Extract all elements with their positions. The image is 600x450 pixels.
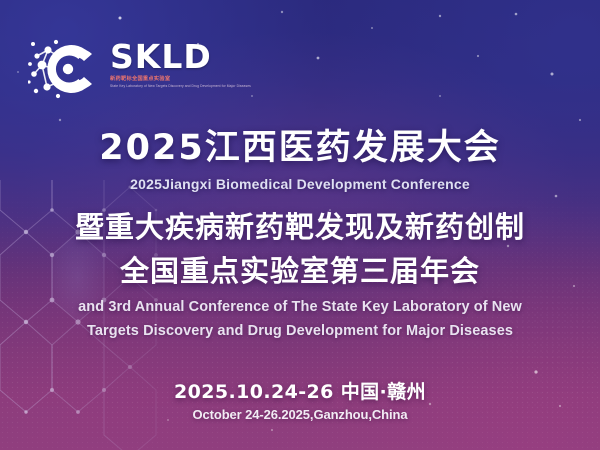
event-date-location-en: October 24-26.2025,Ganzhou,China (0, 408, 600, 421)
skld-logo: SKLD 新药靶标全国重点实验室 State Key Laboratory of… (28, 34, 243, 108)
skld-cn-subtitle: 新药靶标全国重点实验室 (110, 76, 242, 83)
event-date-location-cn: 2025.10.24-26 中国·赣州 (0, 383, 600, 402)
skld-en-subtitle: State Key Laboratory of New Targets Disc… (110, 84, 242, 88)
subtitle-en-line-2: Targets Discovery and Drug Development f… (0, 324, 600, 339)
skld-c-molecule-logo (28, 34, 106, 104)
skld-wordmark-block: SKLD 新药靶标全国重点实验室 State Key Laboratory of… (110, 40, 242, 88)
subtitle-cn-line-2: 全国重点实验室第三届年会 (0, 257, 600, 286)
page-title-cn: 2025江西医药发展大会 (0, 131, 600, 166)
subtitle-en-line-1: and 3rd Annual Conference of The State K… (0, 300, 600, 315)
skld-wordmark: SKLD (110, 40, 242, 73)
page-title-en: 2025Jiangxi Biomedical Development Confe… (0, 177, 600, 191)
subtitle-cn-line-1: 暨重大疾病新药靶发现及新药创制 (0, 213, 600, 242)
conference-poster: SKLD 新药靶标全国重点实验室 State Key Laboratory of… (0, 0, 600, 450)
